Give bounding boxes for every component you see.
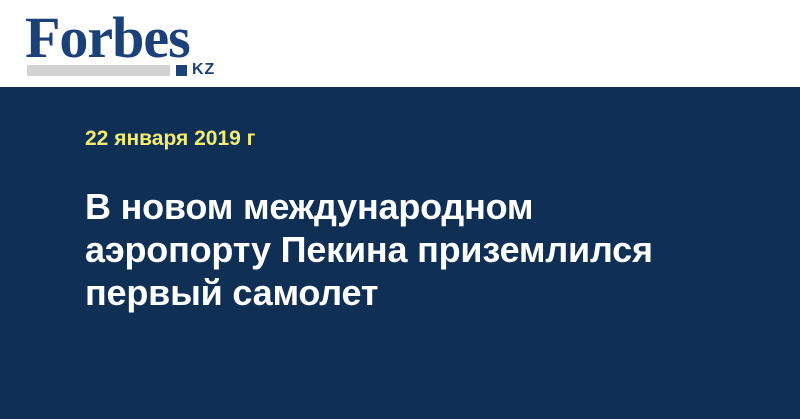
headline-line: первый самолет — [85, 271, 725, 314]
article-card: Forbes KZ 22 января 2019 г В новом между… — [0, 0, 800, 419]
site-header: Forbes KZ — [0, 0, 800, 87]
blue-square-icon — [176, 65, 187, 76]
article-date: 22 января 2019 г — [85, 127, 255, 151]
headline-line: аэропорту Пекина приземлился — [85, 228, 725, 271]
logo-wordmark-text: Forbes — [25, 8, 190, 68]
logo-kz-text: KZ — [192, 62, 215, 78]
forbes-kz-logo[interactable]: Forbes KZ — [25, 8, 235, 80]
logo-underbar — [27, 65, 170, 76]
article-headline[interactable]: В новом международном аэропорту Пекина п… — [85, 185, 725, 314]
article-body: 22 января 2019 г В новом международном а… — [0, 87, 800, 419]
headline-line: В новом международном — [85, 185, 725, 228]
